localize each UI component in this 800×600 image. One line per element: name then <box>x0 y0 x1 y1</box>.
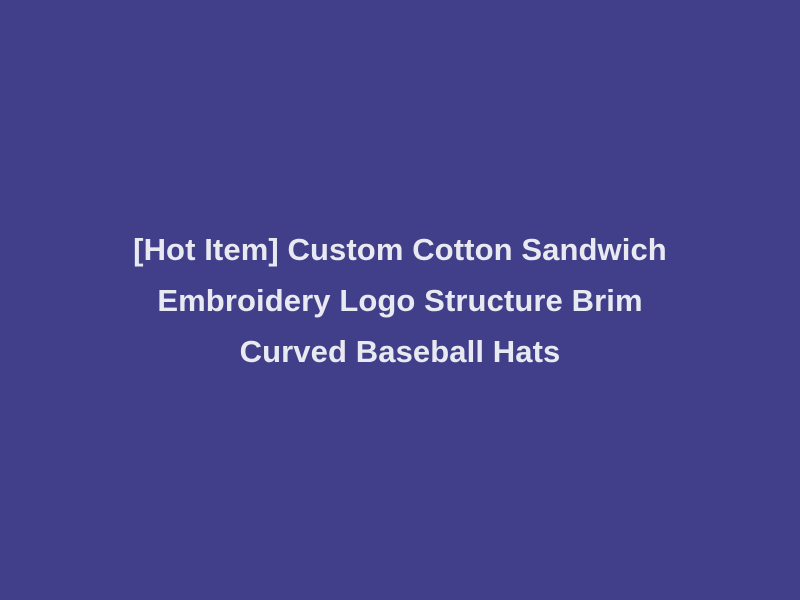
product-title-card: [Hot Item] Custom Cotton Sandwich Embroi… <box>0 0 800 600</box>
page-title-line-1: [Hot Item] Custom Cotton Sandwich <box>64 224 736 275</box>
page-title: [Hot Item] Custom Cotton Sandwich Embroi… <box>50 224 750 377</box>
page-title-line-3: Curved Baseball Hats <box>64 326 736 377</box>
page-title-line-2: Embroidery Logo Structure Brim <box>64 275 736 326</box>
